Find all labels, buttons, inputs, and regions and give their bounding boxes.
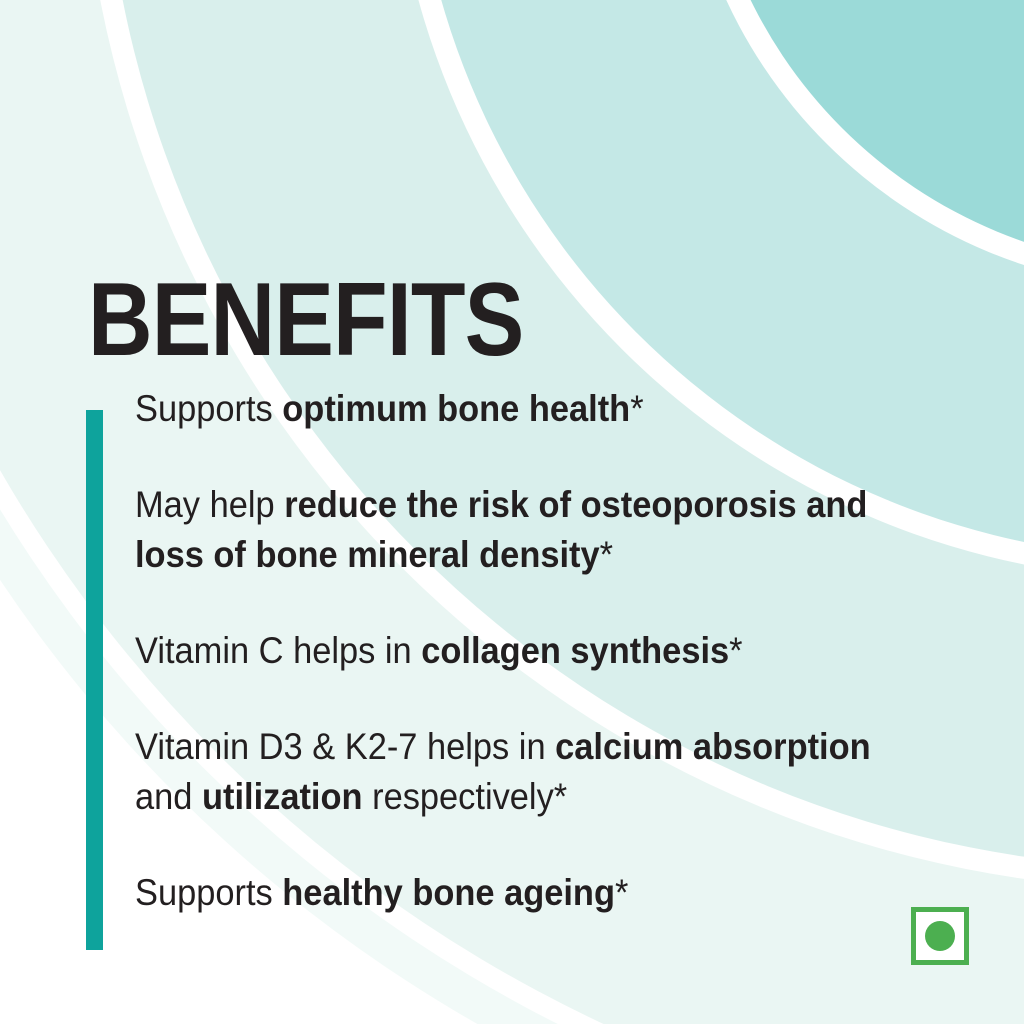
vegetarian-mark-dot-icon bbox=[925, 921, 955, 951]
benefit-text: May help bbox=[135, 484, 284, 525]
benefit-text: * bbox=[600, 534, 613, 575]
benefit-emphasis: collagen synthesis bbox=[421, 630, 729, 671]
benefit-emphasis: calcium absorption bbox=[555, 726, 870, 767]
benefit-emphasis: optimum bone health bbox=[282, 388, 630, 429]
benefit-text: and bbox=[135, 776, 202, 817]
benefit-text: Supports bbox=[135, 872, 282, 913]
page-title: BENEFITS bbox=[88, 268, 523, 372]
benefit-item: Vitamin C helps in collagen synthesis* bbox=[135, 626, 907, 676]
benefits-card: BENEFITS Supports optimum bone health*Ma… bbox=[0, 0, 1024, 1024]
arc-band-2-gap bbox=[680, 0, 1024, 290]
benefit-text: Vitamin C helps in bbox=[135, 630, 421, 671]
benefit-text: * bbox=[615, 872, 628, 913]
benefit-text: respectively* bbox=[363, 776, 568, 817]
accent-rail bbox=[86, 410, 103, 950]
arc-band-1 bbox=[702, 0, 1024, 268]
benefits-list: Supports optimum bone health*May help re… bbox=[135, 384, 965, 918]
benefit-item: Supports optimum bone health* bbox=[135, 384, 907, 434]
benefit-item: May help reduce the risk of osteoporosis… bbox=[135, 480, 907, 580]
vegetarian-mark-icon bbox=[911, 907, 969, 965]
benefit-text: * bbox=[630, 388, 643, 429]
benefit-item: Supports healthy bone ageing* bbox=[135, 868, 907, 918]
benefit-emphasis: utilization bbox=[202, 776, 363, 817]
benefit-emphasis: healthy bone ageing bbox=[282, 872, 615, 913]
benefit-text: Supports bbox=[135, 388, 282, 429]
benefit-text: Vitamin D3 & K2-7 helps in bbox=[135, 726, 555, 767]
benefit-item: Vitamin D3 & K2-7 helps in calcium absor… bbox=[135, 722, 907, 822]
benefit-text: * bbox=[729, 630, 742, 671]
